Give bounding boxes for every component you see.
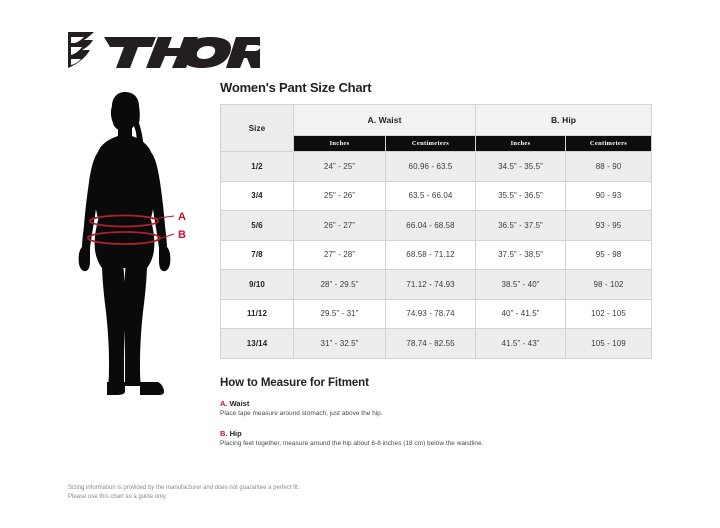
disclaimer: Sizing information is provided by the ma… — [68, 484, 299, 502]
waist-centimeters-value: 63.5 - 66.04 — [386, 181, 476, 211]
hip-inches-value: 41.5” - 43” — [476, 329, 566, 359]
waist-centimeters-value: 71.12 - 74.93 — [386, 270, 476, 300]
waist-centimeters-value: 74.93 - 78.74 — [386, 299, 476, 329]
chart-content: Women's Pant Size Chart Size A. Waist B.… — [220, 80, 652, 459]
brand-logo — [60, 28, 260, 72]
size-cell-value: 7/8 — [221, 240, 294, 270]
measure-key-b: B. — [220, 429, 228, 438]
hip-inches-value: 40” - 41.5” — [476, 299, 566, 329]
waist-inches-value: 24” - 25” — [294, 152, 386, 182]
column-header-waist-centimeters: Centimeters — [386, 135, 476, 151]
hip-centimeters-value: 93 - 95 — [566, 211, 652, 241]
thor-wordmark — [104, 37, 260, 68]
table-body: 1/224” - 25”60.96 - 63.534.5” - 35.5”88 … — [221, 152, 652, 359]
waist-centimeters-value: 66.04 - 68.58 — [386, 211, 476, 241]
measure-item-hip: B. Hip Placing feet together, measure ar… — [220, 429, 652, 448]
measure-description-waist: Place tape measure around stomach, just … — [220, 410, 652, 418]
size-cell-value: 3/4 — [221, 181, 294, 211]
measure-name-hip: Hip — [230, 429, 242, 438]
column-header-waist-inches: Inches — [294, 135, 386, 151]
waist-inches-value: 27” - 28” — [294, 240, 386, 270]
hip-inches-value: 34.5” - 35.5” — [476, 152, 566, 182]
hip-centimeters-value: 90 - 93 — [566, 181, 652, 211]
waist-centimeters-value: 68.58 - 71.12 — [386, 240, 476, 270]
table-header: Size A. Waist B. Hip Inches Centimeters … — [221, 105, 652, 152]
measure-label-hip: B. Hip — [220, 429, 652, 438]
hip-centimeters-value: 105 - 109 — [566, 329, 652, 359]
waist-inches-value: 31” - 32.5” — [294, 329, 386, 359]
hip-centimeters-value: 88 - 90 — [566, 152, 652, 182]
disclaimer-line-1: Sizing information is provided by the ma… — [68, 484, 299, 493]
hip-centimeters-value: 102 - 105 — [566, 299, 652, 329]
size-chart-table: Size A. Waist B. Hip Inches Centimeters … — [220, 104, 652, 359]
column-header-waist: A. Waist — [294, 105, 476, 136]
column-header-hip: B. Hip — [476, 105, 652, 136]
page-title: Women's Pant Size Chart — [220, 80, 652, 95]
how-to-measure-section: How to Measure for Fitment A. Waist Plac… — [220, 377, 652, 448]
table-row: 3/425” - 26”63.5 - 66.0435.5” - 36.5”90 … — [221, 181, 652, 211]
hip-inches-value: 37.5” - 38.5” — [476, 240, 566, 270]
hip-centimeters-value: 95 - 98 — [566, 240, 652, 270]
disclaimer-line-2: Please use this chart as a guide only. — [68, 493, 299, 502]
table-row: 7/827” - 28”68.58 - 71.1237.5” - 38.5”95… — [221, 240, 652, 270]
table-row: 13/1431” - 32.5”78.74 - 82.5541.5” - 43”… — [221, 329, 652, 359]
column-header-hip-inches: Inches — [476, 135, 566, 151]
column-header-size: Size — [221, 105, 294, 152]
waist-inches-value: 26” - 27” — [294, 211, 386, 241]
measure-name-waist: Waist — [230, 399, 250, 408]
table-row: 1/224” - 25”60.96 - 63.534.5” - 35.5”88 … — [221, 152, 652, 182]
measure-item-waist: A. Waist Place tape measure around stoma… — [220, 399, 652, 418]
size-cell-value: 1/2 — [221, 152, 294, 182]
table-row: 5/626” - 27”66.04 - 68.5836.5” - 37.5”93… — [221, 211, 652, 241]
size-cell-value: 13/14 — [221, 329, 294, 359]
measure-label-waist: A. Waist — [220, 399, 652, 408]
hip-inches-value: 36.5” - 37.5” — [476, 211, 566, 241]
waist-centimeters-value: 78.74 - 82.55 — [386, 329, 476, 359]
callout-label-a: A — [178, 211, 186, 223]
size-cell-value: 11/12 — [221, 299, 294, 329]
waist-inches-value: 25” - 26” — [294, 181, 386, 211]
measurement-figure: A B — [52, 92, 222, 397]
how-to-measure-title: How to Measure for Fitment — [220, 377, 652, 389]
waist-centimeters-value: 60.96 - 63.5 — [386, 152, 476, 182]
size-cell-value: 5/6 — [221, 211, 294, 241]
hip-inches-value: 35.5” - 36.5” — [476, 181, 566, 211]
column-header-hip-centimeters: Centimeters — [566, 135, 652, 151]
callout-label-b: B — [178, 229, 186, 241]
waist-inches-value: 29.5” - 31” — [294, 299, 386, 329]
table-row: 11/1229.5” - 31”74.93 - 78.7440” - 41.5”… — [221, 299, 652, 329]
table-row: 9/1028” - 29.5”71.12 - 74.9338.5” - 40”9… — [221, 270, 652, 300]
measure-description-hip: Placing feet together, measure around th… — [220, 440, 652, 448]
waist-inches-value: 28” - 29.5” — [294, 270, 386, 300]
hip-inches-value: 38.5” - 40” — [476, 270, 566, 300]
table-group-header-row: Size A. Waist B. Hip — [221, 105, 652, 136]
thor-helmet-icon — [68, 32, 94, 68]
hip-centimeters-value: 98 - 102 — [566, 270, 652, 300]
measure-key-a: A. — [220, 399, 228, 408]
size-cell-value: 9/10 — [221, 270, 294, 300]
